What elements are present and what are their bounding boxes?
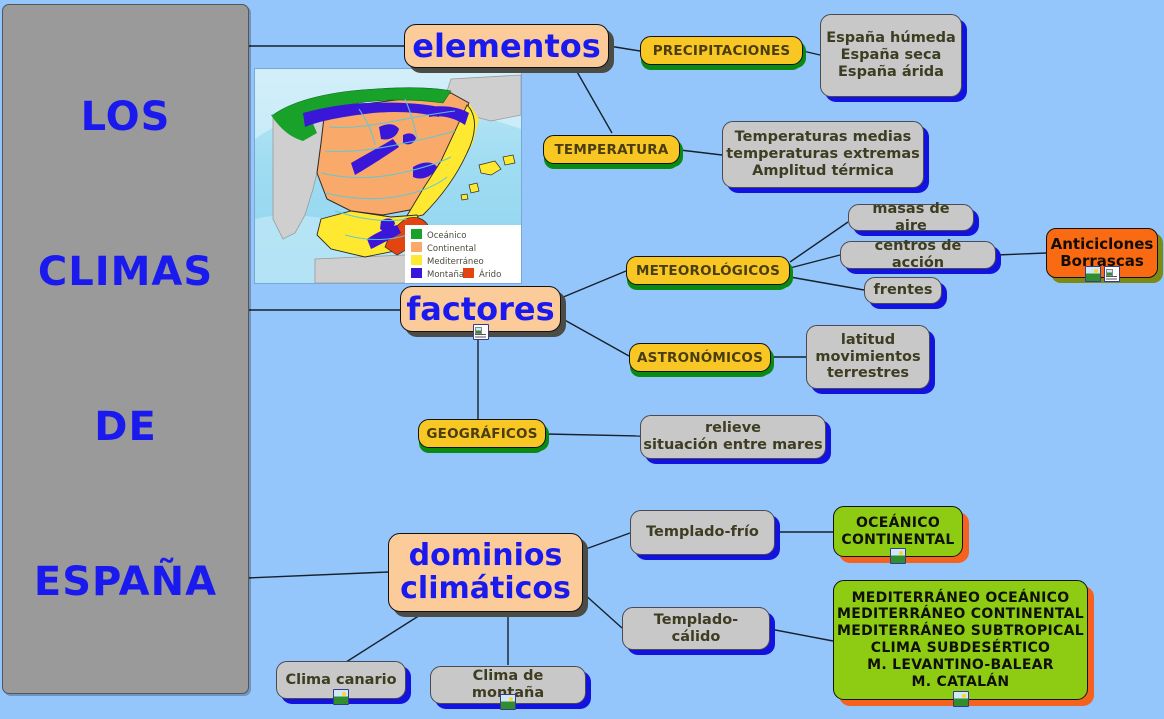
legend-label-oceanico: Oceánico	[427, 231, 466, 241]
mindmap-canvas: LOS CLIMAS DE ESPAÑA	[0, 0, 1164, 719]
node-mediterraneo-group[interactable]: MEDITERRÁNEO OCEÁNICO MEDITERRÁNEO CONTI…	[833, 580, 1088, 700]
dominios-line-1: dominios	[409, 540, 563, 572]
detail-line: terrestres	[827, 365, 909, 382]
node-geograficos[interactable]: GEOGRÁFICOS	[418, 419, 546, 448]
anticiclones-line: Anticiclones	[1051, 236, 1154, 253]
detail-line: movimientos	[815, 349, 920, 366]
clima-canario-icon-row	[277, 689, 405, 705]
title-line-4: ESPAÑA	[34, 562, 217, 602]
map-svg: Oceánico Continental Mediterráneo Montañ…	[255, 69, 521, 283]
node-meteorologicos[interactable]: METEOROLÓGICOS	[626, 256, 790, 285]
node-precipitaciones[interactable]: PRECIPITACIONES	[640, 36, 803, 65]
detail-line: temperaturas extremas	[726, 146, 920, 163]
title-line-1: LOS	[81, 97, 171, 137]
node-precipitaciones-label: PRECIPITACIONES	[641, 41, 802, 61]
node-masas-de-aire-label: masas de aire	[849, 199, 973, 237]
detail-line: España seca	[841, 47, 942, 64]
detail-line: España árida	[838, 64, 944, 81]
oceanico-icon-row	[834, 548, 962, 564]
node-templado-frio-label: Templado-frío	[631, 522, 774, 543]
node-astronomicos-label: ASTRONÓMICOS	[629, 348, 771, 368]
climate-map-of-spain[interactable]: Oceánico Continental Mediterráneo Montañ…	[254, 68, 522, 284]
dominios-line-2: climáticos	[400, 573, 571, 605]
node-factores[interactable]: factores	[400, 286, 561, 332]
image-icon[interactable]	[890, 548, 906, 564]
document-icon[interactable]	[473, 324, 489, 340]
node-frentes-label: frentes	[865, 280, 941, 301]
node-frentes[interactable]: frentes	[864, 277, 942, 304]
title-line-2: CLIMAS	[38, 252, 213, 292]
legend-label-montana: Montaña	[427, 270, 464, 280]
node-astronomicos-detail[interactable]: latitud movimientos terrestres	[806, 325, 930, 389]
detail-line: Amplitud térmica	[752, 163, 894, 180]
result-line: M. CATALÁN	[912, 674, 1010, 691]
mediterraneo-icon-row	[834, 691, 1087, 707]
node-geograficos-label: GEOGRÁFICOS	[418, 424, 545, 444]
node-elementos[interactable]: elementos	[404, 24, 609, 68]
node-astronomicos[interactable]: ASTRONÓMICOS	[629, 343, 771, 372]
node-temperatura[interactable]: TEMPERATURA	[543, 135, 680, 164]
result-line: CLIMA SUBDESÉRTICO	[871, 640, 1050, 657]
main-title-panel: LOS CLIMAS DE ESPAÑA	[2, 4, 249, 694]
result-line: M. LEVANTINO-BALEAR	[867, 657, 1054, 674]
detail-line: latitud	[841, 332, 895, 349]
factores-icon-row	[401, 324, 560, 340]
image-icon[interactable]	[953, 691, 969, 707]
anticiclones-icon-row	[1047, 266, 1157, 282]
result-line: MEDITERRÁNEO CONTINENTAL	[837, 606, 1084, 623]
node-anticiclones-borrascas[interactable]: Anticiclones Borrascas	[1046, 228, 1158, 278]
node-geograficos-detail[interactable]: relieve situación entre mares	[640, 415, 826, 459]
node-masas-de-aire[interactable]: masas de aire	[848, 204, 974, 231]
node-templado-calido-label: Templado-cálido	[623, 610, 769, 648]
image-icon[interactable]	[500, 694, 516, 710]
detail-line: Temperaturas medias	[735, 129, 912, 146]
image-icon[interactable]	[1085, 266, 1101, 282]
node-clima-de-montana[interactable]: Clima de montaña	[430, 666, 586, 704]
detail-line: relieve	[705, 420, 761, 437]
legend-label-continental: Continental	[427, 244, 476, 254]
document-icon[interactable]	[1104, 266, 1120, 282]
node-centros-de-accion[interactable]: centros de acción	[840, 241, 996, 269]
legend-label-mediterraneo: Mediterráneo	[427, 257, 484, 267]
title-line-3: DE	[94, 407, 157, 447]
result-line: OCEÁNICO	[856, 515, 940, 532]
node-centros-de-accion-label: centros de acción	[841, 236, 995, 274]
result-line: MEDITERRÁNEO OCEÁNICO	[852, 590, 1070, 607]
node-oceanico-continental[interactable]: OCEÁNICO CONTINENTAL	[833, 506, 963, 557]
node-precipitaciones-detail[interactable]: España húmeda España seca España árida	[820, 14, 962, 97]
detail-line: situación entre mares	[643, 437, 822, 454]
node-clima-canario[interactable]: Clima canario	[276, 661, 406, 699]
legend-label-arido: Árido	[479, 268, 501, 280]
node-elementos-label: elementos	[404, 25, 609, 67]
detail-line: España húmeda	[826, 30, 956, 47]
node-meteorologicos-label: METEOROLÓGICOS	[627, 261, 789, 281]
node-temperatura-label: TEMPERATURA	[544, 140, 679, 160]
node-temperatura-detail[interactable]: Temperaturas medias temperaturas extrema…	[722, 121, 924, 188]
node-dominios-climaticos[interactable]: dominios climáticos	[388, 533, 583, 612]
result-line: MEDITERRÁNEO SUBTROPICAL	[837, 623, 1084, 640]
node-clima-canario-label: Clima canario	[277, 670, 405, 691]
node-templado-frio[interactable]: Templado-frío	[630, 510, 775, 555]
image-icon[interactable]	[333, 689, 349, 705]
result-line: CONTINENTAL	[841, 532, 954, 549]
clima-montana-icon-row	[431, 694, 585, 710]
node-templado-calido[interactable]: Templado-cálido	[622, 607, 770, 650]
